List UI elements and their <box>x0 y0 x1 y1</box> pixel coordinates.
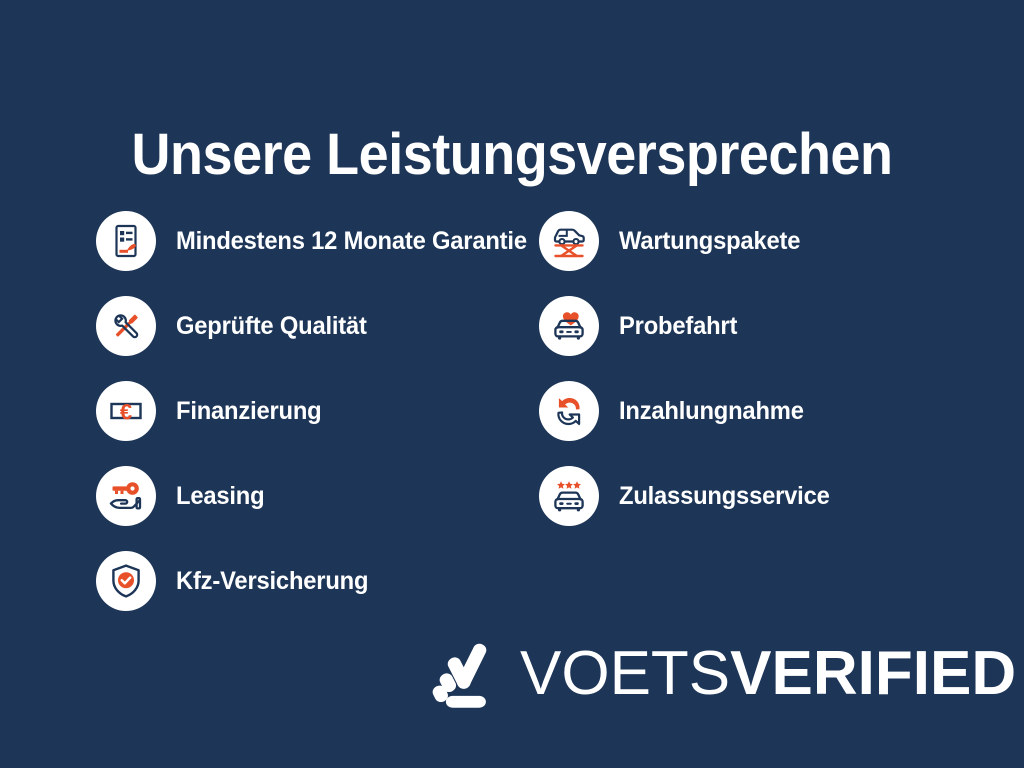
svg-text:€: € <box>120 399 132 424</box>
benefit-item-leasing: Leasing <box>96 453 523 538</box>
benefit-label: Finanzierung <box>176 397 321 425</box>
benefit-icon-badge: € <box>96 381 156 441</box>
benefit-label: Zulassungsservice <box>619 482 830 510</box>
benefit-icon-badge <box>539 381 599 441</box>
benefit-icon-badge <box>96 551 156 611</box>
logo-word-voets: VOETS <box>520 643 730 705</box>
shield-check-icon <box>107 562 145 600</box>
benefit-item-zulassungsservice: Zulassungsservice <box>539 453 966 538</box>
benefit-label: Inzahlungnahme <box>619 397 804 425</box>
benefit-icon-badge <box>539 211 599 271</box>
benefit-item-inzahlungnahme: Inzahlungnahme <box>539 368 966 453</box>
wrench-screwdriver-icon <box>107 307 145 345</box>
benefit-icon-badge <box>539 296 599 356</box>
logo-wordmark: VOETSVERIFIED <box>520 643 1016 705</box>
promo-poster: Unsere Leistungsversprechen <box>0 0 1024 768</box>
benefit-item-garantie: Mindestens 12 Monate Garantie <box>96 198 523 283</box>
page-title: Unsere Leistungsversprechen <box>36 123 988 187</box>
voets-verified-logo: VOETSVERIFIED <box>432 628 1016 720</box>
benefits-left-column: Mindestens 12 Monate Garantie <box>96 198 523 623</box>
benefit-item-qualitaet: Geprüfte Qualität <box>96 283 523 368</box>
certificate-pen-icon <box>107 222 145 260</box>
key-in-hand-icon <box>106 476 146 516</box>
benefit-icon-badge <box>96 296 156 356</box>
benefit-label: Wartungspakete <box>619 227 800 255</box>
benefits-right-column: Wartungspakete <box>539 198 966 623</box>
benefit-item-wartungspakete: Wartungspakete <box>539 198 966 283</box>
logo-word-verified: VERIFIED <box>730 643 1016 705</box>
benefit-icon-badge <box>539 466 599 526</box>
banknote-euro-icon: € <box>106 391 146 431</box>
car-lift-icon <box>549 221 589 261</box>
benefit-label: Probefahrt <box>619 312 737 340</box>
benefit-label: Geprüfte Qualität <box>176 312 367 340</box>
benefit-item-finanzierung: € Finanzierung <box>96 368 523 453</box>
exchange-arrows-icon <box>549 391 589 431</box>
benefit-icon-badge <box>96 466 156 526</box>
benefits-grid: Mindestens 12 Monate Garantie <box>96 198 966 623</box>
benefit-item-probefahrt: Probefahrt <box>539 283 966 368</box>
benefit-label: Kfz-Versicherung <box>176 567 368 595</box>
benefit-icon-badge <box>96 211 156 271</box>
benefit-item-versicherung: Kfz-Versicherung <box>96 538 523 623</box>
voets-v-mark-icon <box>432 638 494 710</box>
benefit-label: Leasing <box>176 482 264 510</box>
car-heart-icon <box>549 306 589 346</box>
benefit-label: Mindestens 12 Monate Garantie <box>176 227 527 255</box>
car-stars-icon <box>549 476 589 516</box>
